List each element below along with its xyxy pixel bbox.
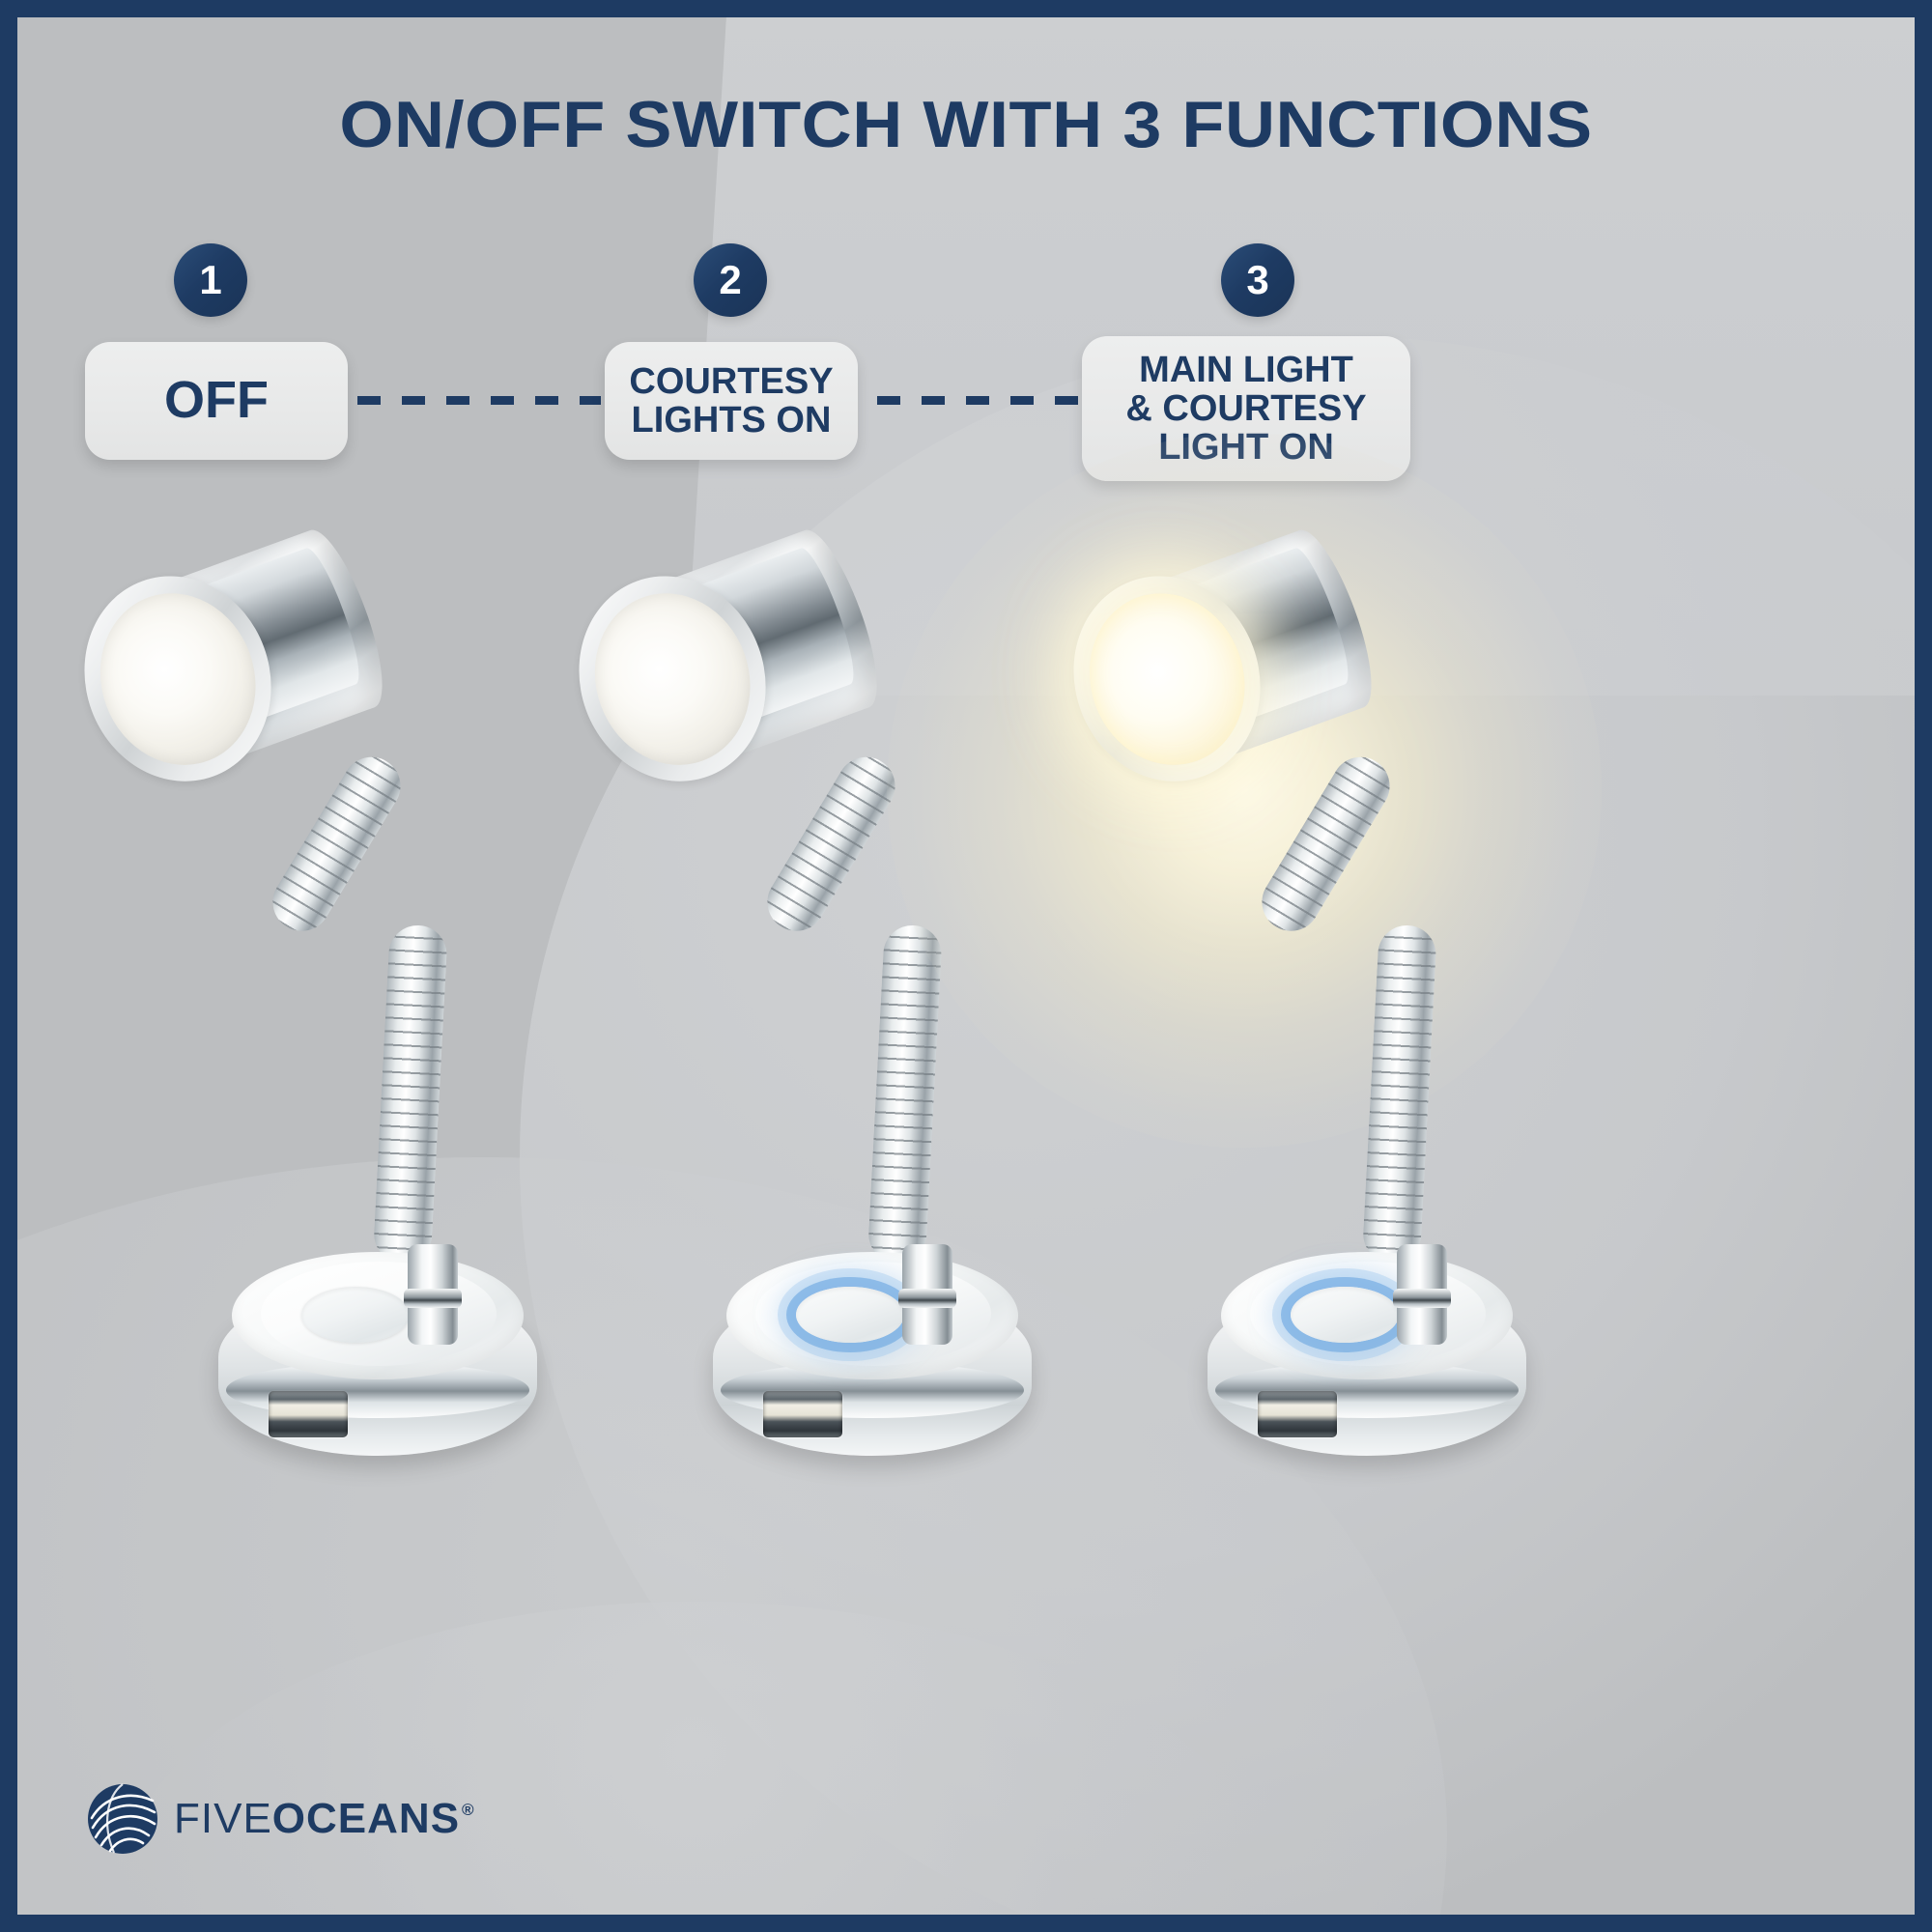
brand-logo: FIVE OCEANS ®: [87, 1783, 475, 1855]
lamp-stem-ring-3: [1393, 1289, 1451, 1308]
step-card-1-lines: OFF: [147, 373, 286, 428]
power-button-1[interactable]: [301, 1287, 410, 1343]
registered-trademark-icon: ®: [462, 1801, 475, 1820]
lamp-stem-ring-2: [898, 1289, 956, 1308]
brand-wordmark: FIVE OCEANS ®: [174, 1795, 475, 1843]
step-card-3: MAIN LIGHT & COURTESY LIGHT ON: [1082, 336, 1410, 481]
lamp-base-3: [1207, 1246, 1526, 1473]
connector-1-to-2: [357, 396, 601, 405]
step-card-2: COURTESY LIGHTS ON: [605, 342, 858, 460]
usb-port-2[interactable]: [763, 1391, 842, 1437]
step-card-2-lines: COURTESY LIGHTS ON: [611, 362, 850, 440]
step-badge-3: 3: [1221, 243, 1294, 317]
power-button-2[interactable]: [796, 1287, 904, 1343]
globe-wave-icon: [87, 1783, 158, 1855]
usb-port-3[interactable]: [1258, 1391, 1337, 1437]
step-card-3-line-1: MAIN LIGHT: [1125, 351, 1366, 389]
steps-container: 1 OFF 2 COURTESY LIGHTS ON 3: [17, 17, 1932, 1932]
brand-name-five: FIVE: [174, 1795, 272, 1843]
step-card-3-line-3: LIGHT ON: [1125, 428, 1366, 467]
infographic-canvas: ON/OFF SWITCH WITH 3 FUNCTIONS 1 OFF 2 C…: [0, 0, 1932, 1932]
step-card-1: OFF: [85, 342, 348, 460]
step-card-3-line-2: & COURTESY: [1125, 389, 1366, 428]
lamp-base-1: [218, 1246, 537, 1473]
connector-2-to-3: [877, 396, 1080, 405]
brand-name-oceans: OCEANS: [272, 1795, 460, 1843]
step-badge-2: 2: [694, 243, 767, 317]
step-card-3-lines: MAIN LIGHT & COURTESY LIGHT ON: [1108, 351, 1383, 468]
power-button-3[interactable]: [1291, 1287, 1399, 1343]
step-card-2-line-2: LIGHTS ON: [629, 401, 833, 440]
step-card-1-line-1: OFF: [164, 373, 269, 428]
lamp-base-2: [713, 1246, 1032, 1473]
step-badge-1: 1: [174, 243, 247, 317]
usb-port-1[interactable]: [269, 1391, 348, 1437]
step-card-2-line-1: COURTESY: [629, 362, 833, 401]
lamp-stem-ring-1: [404, 1289, 462, 1308]
